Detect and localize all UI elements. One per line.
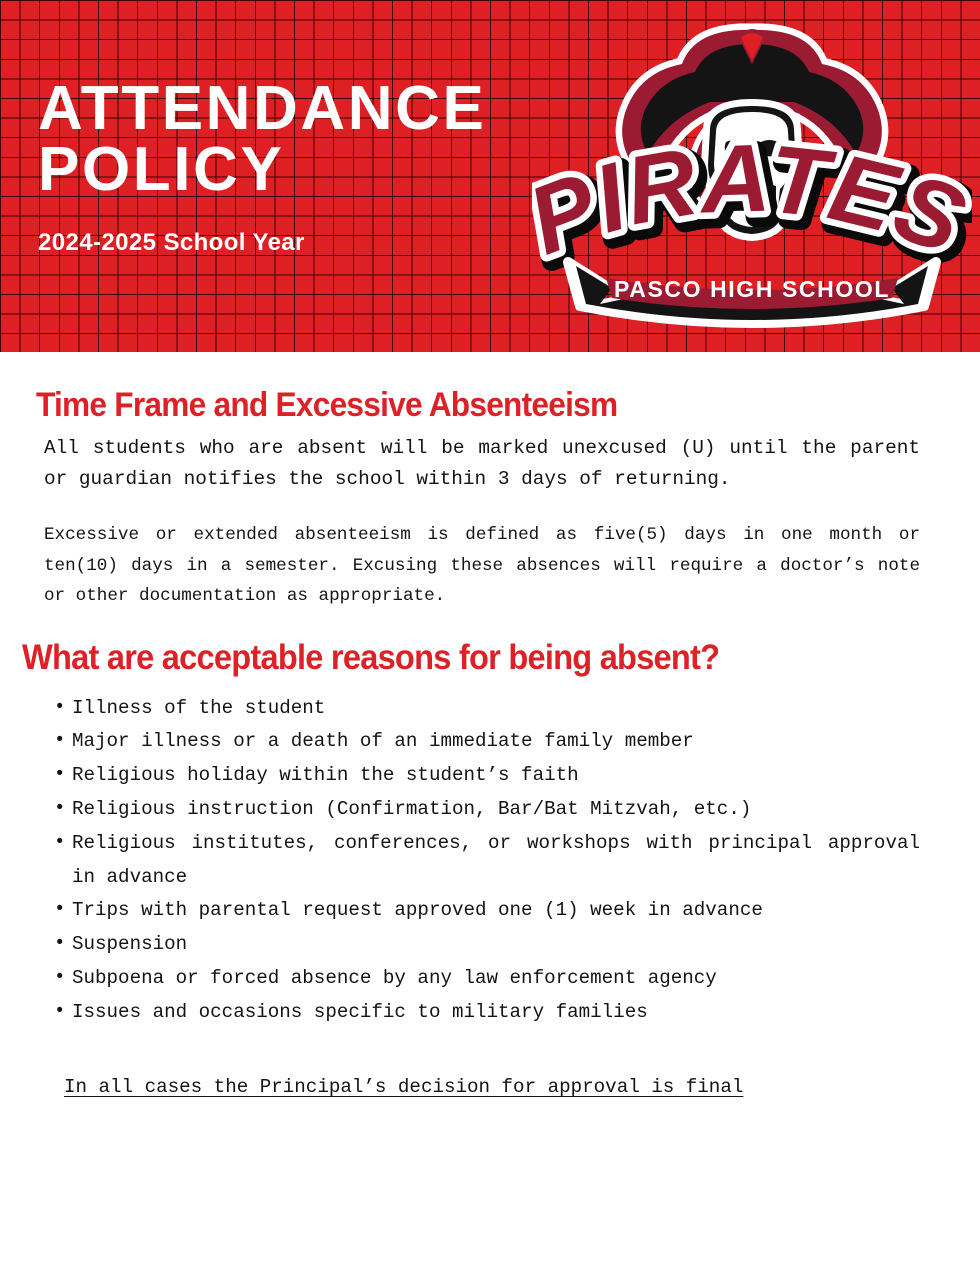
header-title-group: ATTENDANCE POLICY 2024-2025 School Year	[38, 78, 487, 257]
header-banner: ATTENDANCE POLICY 2024-2025 School Year	[0, 0, 980, 352]
banner-label: PASCO HIGH SCHOOL	[614, 276, 890, 302]
page-title-line-2: POLICY	[38, 139, 487, 200]
list-item: Trips with parental request approved one…	[44, 894, 920, 928]
list-item: Religious institutes, conferences, or wo…	[44, 827, 920, 895]
svg-text:PIRATES: PIRATES	[532, 125, 972, 275]
school-name-banner: PASCO HIGH SCHOOL	[568, 262, 936, 323]
pirates-wordmark: PIRATES PIRATES PIRATES	[532, 125, 972, 281]
policy-content: Time Frame and Excessive Absenteeism All…	[0, 386, 980, 1098]
list-item: Illness of the student	[44, 692, 920, 726]
school-year-subtitle: 2024-2025 School Year	[38, 229, 487, 257]
page-title-line-1: ATTENDANCE	[38, 78, 487, 139]
acceptable-reasons-list: Illness of the student Major illness or …	[44, 692, 920, 1030]
attendance-policy-page: ATTENDANCE POLICY 2024-2025 School Year	[0, 0, 980, 1269]
paragraph-unexcused-rule: All students who are absent will be mark…	[44, 433, 920, 494]
section-heading-acceptable-reasons: What are acceptable reasons for being ab…	[22, 638, 857, 678]
list-item: Religious instruction (Confirmation, Bar…	[44, 793, 920, 827]
paragraph-excessive-definition: Excessive or extended absenteeism is def…	[44, 520, 920, 611]
final-note-principal-decision: In all cases the Principal’s decision fo…	[64, 1076, 743, 1098]
list-item: Subpoena or forced absence by any law en…	[44, 962, 920, 996]
section-heading-time-frame: Time Frame and Excessive Absenteeism	[36, 386, 858, 425]
school-logo: TM PIRATES PIRATES PIRATES	[532, 6, 972, 336]
list-item: Religious holiday within the student’s f…	[44, 759, 920, 793]
list-item: Suspension	[44, 928, 920, 962]
list-item: Issues and occasions specific to militar…	[44, 996, 920, 1030]
list-item: Major illness or a death of an immediate…	[44, 725, 920, 759]
